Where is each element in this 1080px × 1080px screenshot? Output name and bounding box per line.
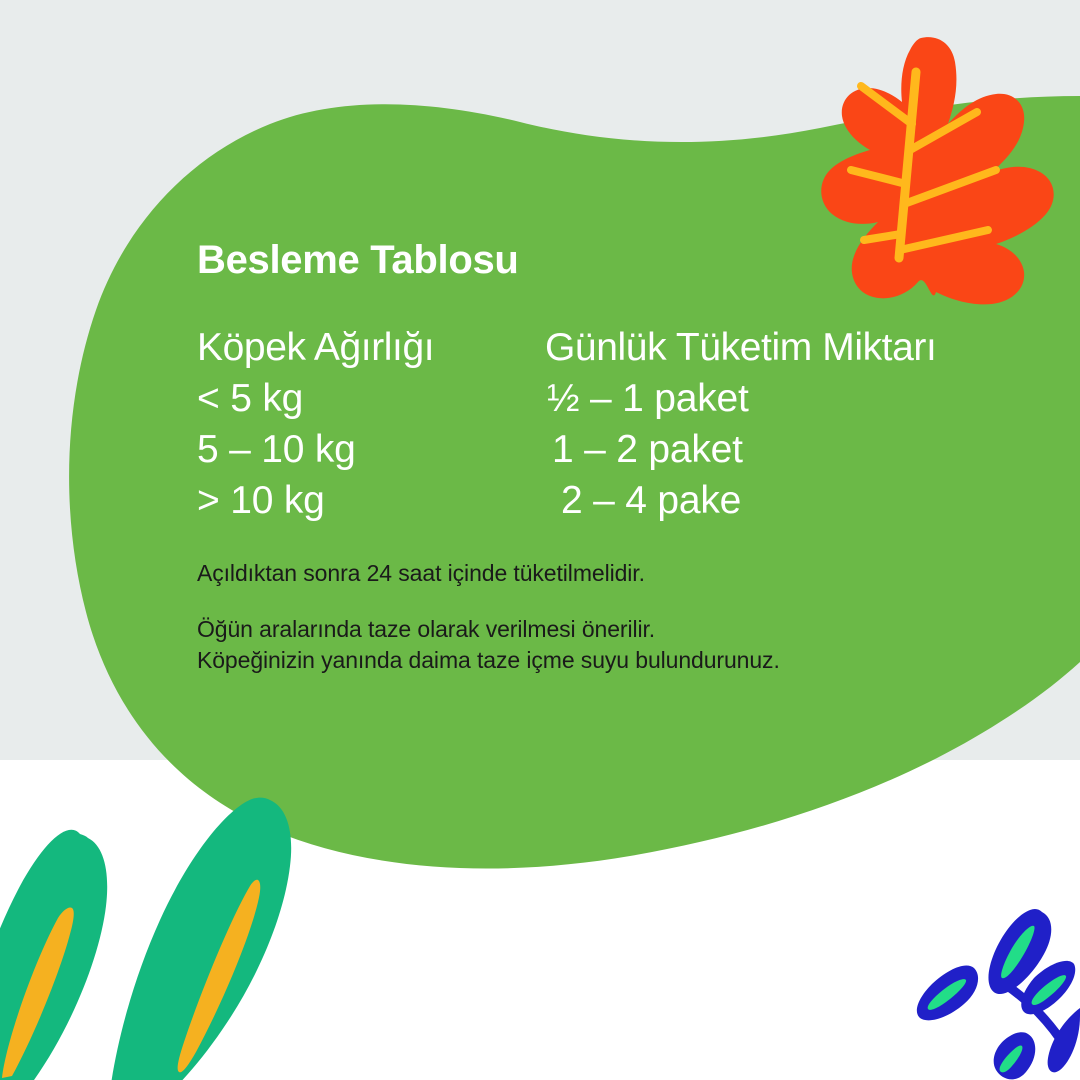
page-title: Besleme Tablosu xyxy=(197,238,519,283)
note-water: Köpeğinizin yanında daima taze içme suyu… xyxy=(197,645,1077,676)
feeding-chart-graphic: Besleme Tablosu Köpek Ağırlığı Günlük Tü… xyxy=(0,0,1080,1080)
cell-amount: 2 – 4 pake xyxy=(561,479,741,523)
cell-amount: 1 – 2 paket xyxy=(552,428,743,472)
table-header-row: Köpek Ağırlığı Günlük Tüketim Miktarı xyxy=(197,326,1077,377)
decorative-artwork xyxy=(0,0,1080,1080)
table-row: > 10 kg 2 – 4 pake xyxy=(197,479,1077,530)
cell-amount: ½ – 1 paket xyxy=(547,377,749,421)
note-serving: Öğün aralarında taze olarak verilmesi ön… xyxy=(197,614,1077,645)
cell-weight: < 5 kg xyxy=(197,377,303,421)
cell-weight: 5 – 10 kg xyxy=(197,428,356,472)
column-header-amount: Günlük Tüketim Miktarı xyxy=(545,326,936,370)
table-row: 5 – 10 kg 1 – 2 paket xyxy=(197,428,1077,479)
column-header-weight: Köpek Ağırlığı xyxy=(197,326,434,370)
table-row: < 5 kg ½ – 1 paket xyxy=(197,377,1077,428)
note-storage: Açıldıktan sonra 24 saat içinde tüketilm… xyxy=(197,558,1077,589)
orange-oak-leaf-icon xyxy=(821,37,1053,304)
feeding-table: Köpek Ağırlığı Günlük Tüketim Miktarı < … xyxy=(197,326,1077,530)
notes-block: Açıldıktan sonra 24 saat içinde tüketilm… xyxy=(197,558,1077,676)
cell-weight: > 10 kg xyxy=(197,479,325,523)
